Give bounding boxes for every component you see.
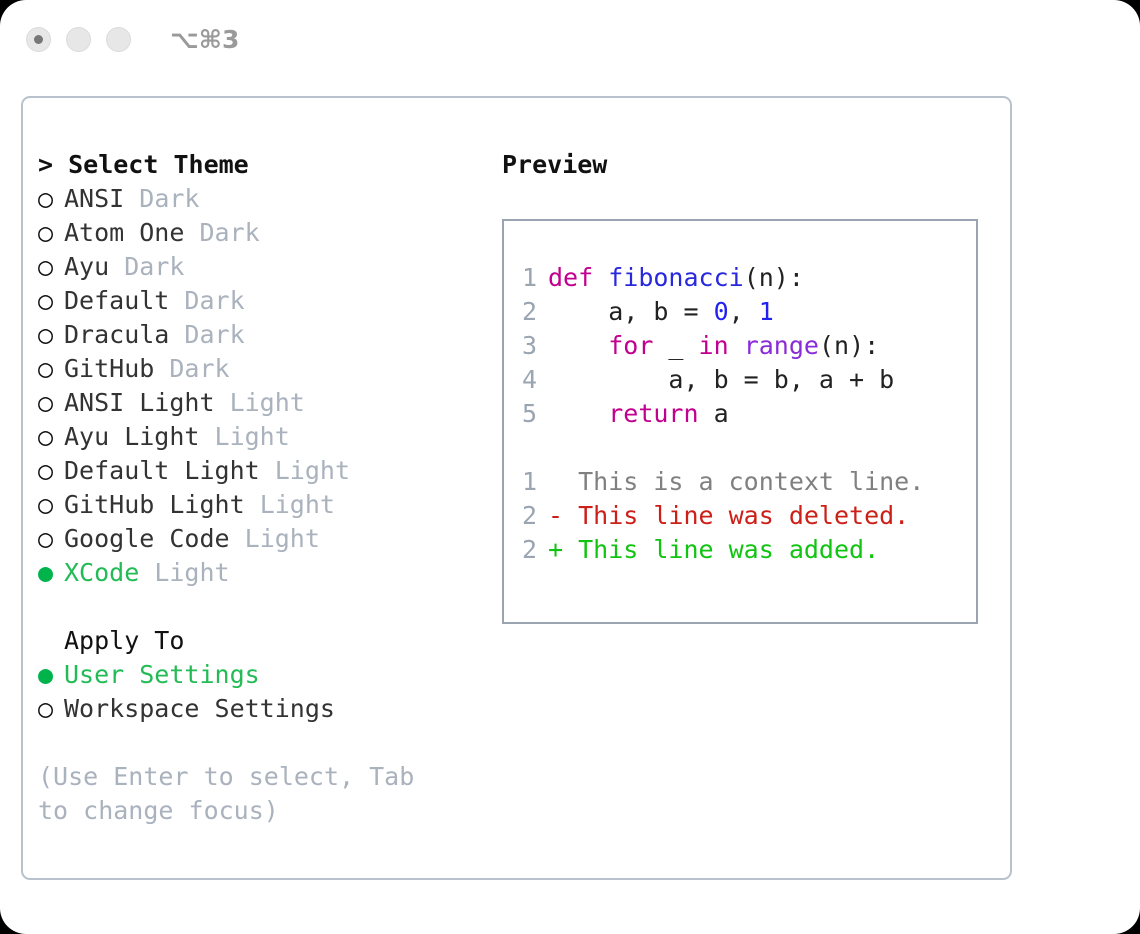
theme-option-space [184, 218, 199, 247]
preview-column: Preview 1def fibonacci(n):2 a, b = 0, 13… [502, 148, 992, 624]
theme-list: ○ANSI Dark○Atom One Dark○Ayu Dark○Defaul… [38, 182, 488, 590]
radio-unselected-icon: ○ [38, 420, 64, 454]
radio-unselected-icon: ○ [38, 284, 64, 318]
radio-unselected-icon: ○ [38, 182, 64, 216]
select-theme-header: > Select Theme [38, 148, 488, 182]
code-token-plain: _ [653, 331, 698, 360]
theme-option-name: Ayu Light [64, 422, 199, 451]
apply-to-section: Apply To ●User Settings○Workspace Settin… [38, 624, 488, 726]
code-token-plain: a, b = [548, 297, 714, 326]
theme-option-name: GitHub Light [64, 490, 245, 519]
radio-unselected-icon: ○ [38, 386, 64, 420]
theme-option-name: Google Code [64, 524, 230, 553]
theme-option-space [245, 490, 260, 519]
code-line: 4 a, b = b, a + b [522, 363, 976, 397]
code-token-num: 1 [759, 297, 774, 326]
keyboard-hint-text: (Use Enter to select, Tab to change focu… [38, 760, 448, 828]
theme-selection-column: > Select Theme ○ANSI Dark○Atom One Dark○… [38, 148, 488, 828]
theme-option-dracula[interactable]: ○Dracula Dark [38, 318, 488, 352]
theme-option-variant: Light [260, 490, 335, 519]
diff-line-number: 1 [522, 465, 548, 499]
theme-option-ayu-light[interactable]: ○Ayu Light Light [38, 420, 488, 454]
code-token-plain: a [699, 399, 729, 428]
theme-option-name: Atom One [64, 218, 184, 247]
theme-option-name: GitHub [64, 354, 154, 383]
theme-option-variant: Dark [184, 286, 244, 315]
diff-sample: 1 This is a context line.2- This line wa… [522, 465, 976, 567]
apply-to-option-label: Workspace Settings [64, 694, 335, 723]
theme-option-space [199, 422, 214, 451]
diff-line-number: 2 [522, 499, 548, 533]
apply-to-header: Apply To [38, 624, 488, 658]
diff-line-text: + This line was added. [548, 535, 879, 564]
code-token-bi: range [744, 331, 819, 360]
theme-option-variant: Light [245, 524, 320, 553]
code-line: 2 a, b = 0, 1 [522, 295, 976, 329]
diff-line-del: 2- This line was deleted. [522, 499, 976, 533]
theme-option-space [169, 286, 184, 315]
theme-option-name: XCode [64, 558, 139, 587]
diff-line-text: This is a context line. [548, 467, 924, 496]
code-token-num: 0 [714, 297, 729, 326]
theme-option-atom-one[interactable]: ○Atom One Dark [38, 216, 488, 250]
radio-unselected-icon: ○ [38, 250, 64, 284]
theme-option-name: Dracula [64, 320, 169, 349]
code-token-plain: (n): [819, 331, 879, 360]
theme-option-space [169, 320, 184, 349]
theme-option-space [109, 252, 124, 281]
theme-option-github[interactable]: ○GitHub Dark [38, 352, 488, 386]
theme-option-space [139, 558, 154, 587]
apply-to-option-workspace-settings[interactable]: ○Workspace Settings [38, 692, 488, 726]
theme-option-xcode[interactable]: ●XCode Light [38, 556, 488, 590]
window-controls [26, 27, 131, 52]
theme-option-name: ANSI Light [64, 388, 215, 417]
code-token-plain: (n): [744, 263, 804, 292]
theme-option-name: Ayu [64, 252, 109, 281]
radio-unselected-icon: ○ [38, 522, 64, 556]
code-token-plain [729, 331, 744, 360]
theme-option-variant: Dark [139, 184, 199, 213]
theme-option-name: ANSI [64, 184, 124, 213]
code-diff-spacer [522, 431, 976, 465]
code-token-kw: for [608, 331, 653, 360]
radio-selected-icon: ● [38, 556, 64, 590]
app-window: ⌥⌘3 > Select Theme ○ANSI Dark○Atom One D… [0, 0, 1140, 934]
window-dot-active-indicator [34, 35, 43, 44]
theme-option-google-code[interactable]: ○Google Code Light [38, 522, 488, 556]
main-panel: > Select Theme ○ANSI Dark○Atom One Dark○… [21, 96, 1012, 880]
theme-option-ansi[interactable]: ○ANSI Dark [38, 182, 488, 216]
apply-to-option-user-settings[interactable]: ●User Settings [38, 658, 488, 692]
code-line-number: 1 [522, 261, 548, 295]
theme-option-space [154, 354, 169, 383]
theme-option-default-light[interactable]: ○Default Light Light [38, 454, 488, 488]
radio-unselected-icon: ○ [38, 318, 64, 352]
code-line: 3 for _ in range(n): [522, 329, 976, 363]
code-line-number: 4 [522, 363, 548, 397]
diff-line-text: - This line was deleted. [548, 501, 909, 530]
theme-option-space [230, 524, 245, 553]
theme-option-variant: Light [154, 558, 229, 587]
diff-line-add: 2+ This line was added. [522, 533, 976, 567]
code-sample: 1def fibonacci(n):2 a, b = 0, 13 for _ i… [522, 261, 976, 431]
radio-unselected-icon: ○ [38, 454, 64, 488]
theme-option-name: Default Light [64, 456, 260, 485]
code-line: 1def fibonacci(n): [522, 261, 976, 295]
theme-option-variant: Light [215, 422, 290, 451]
preview-box: 1def fibonacci(n):2 a, b = 0, 13 for _ i… [502, 219, 978, 624]
theme-option-space [215, 388, 230, 417]
theme-option-ayu[interactable]: ○Ayu Dark [38, 250, 488, 284]
theme-option-name: Default [64, 286, 169, 315]
theme-option-space [124, 184, 139, 213]
radio-selected-icon: ● [38, 658, 64, 692]
radio-unselected-icon: ○ [38, 488, 64, 522]
window-dot-second[interactable] [66, 27, 91, 52]
code-line: 5 return a [522, 397, 976, 431]
code-token-kw: in [699, 331, 729, 360]
code-token-kw: return [608, 399, 698, 428]
code-token-kw: def [548, 263, 608, 292]
title-bar: ⌥⌘3 [0, 0, 1140, 78]
code-token-plain [548, 399, 608, 428]
theme-option-variant: Light [275, 456, 350, 485]
theme-option-ansi-light[interactable]: ○ANSI Light Light [38, 386, 488, 420]
diff-line-ctx: 1 This is a context line. [522, 465, 976, 499]
code-line-number: 2 [522, 295, 548, 329]
theme-option-variant: Dark [199, 218, 259, 247]
theme-option-github-light[interactable]: ○GitHub Light Light [38, 488, 488, 522]
window-dot-third[interactable] [106, 27, 131, 52]
radio-unselected-icon: ○ [38, 692, 64, 726]
diff-line-number: 2 [522, 533, 548, 567]
code-line-number: 5 [522, 397, 548, 431]
keyboard-shortcut-label: ⌥⌘3 [170, 25, 239, 54]
radio-unselected-icon: ○ [38, 216, 64, 250]
theme-option-variant: Dark [184, 320, 244, 349]
preview-title: Preview [502, 148, 992, 182]
theme-option-variant: Dark [169, 354, 229, 383]
theme-option-variant: Dark [124, 252, 184, 281]
code-token-fn: fibonacci [608, 263, 743, 292]
radio-unselected-icon: ○ [38, 352, 64, 386]
theme-option-variant: Light [230, 388, 305, 417]
theme-option-space [260, 456, 275, 485]
apply-to-list: ●User Settings○Workspace Settings [38, 658, 488, 726]
code-token-plain: a, b = b, a + b [548, 365, 894, 394]
window-dot-active[interactable] [26, 27, 51, 52]
code-token-plain: , [729, 297, 759, 326]
apply-to-option-label: User Settings [64, 660, 260, 689]
theme-option-default[interactable]: ○Default Dark [38, 284, 488, 318]
code-token-plain [548, 331, 608, 360]
code-line-number: 3 [522, 329, 548, 363]
